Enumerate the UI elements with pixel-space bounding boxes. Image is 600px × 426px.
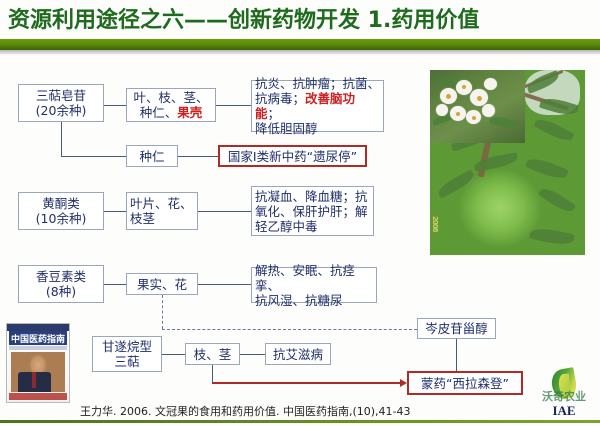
connector-part2-effect2 bbox=[198, 211, 251, 212]
slide-canvas: 资源利用途径之六——创新药物开发 1.药用价值 20 bbox=[0, 0, 600, 426]
drug-box-yiniaoting: 国家I类新中药“遗尿停” bbox=[218, 145, 367, 167]
part-line-1: 叶、枝、茎、 bbox=[133, 90, 208, 105]
coumarin-line-2: (8种) bbox=[46, 284, 76, 299]
brand-logo: 沃奇农业 IAE bbox=[536, 369, 592, 419]
part-box-leaf-flower-branch: 叶片、花、 枝茎 bbox=[126, 192, 198, 230]
effect-line-3: 降低胆固醇 bbox=[255, 121, 318, 136]
effect4-label: 抗艾滋病 bbox=[269, 347, 327, 362]
photo-watermark: 2008 bbox=[431, 216, 439, 231]
connector-compound4-part4 bbox=[162, 354, 185, 355]
effect2-line-2: 氧化、保肝护肝；解 bbox=[255, 204, 368, 219]
part-box-branch-stem: 枝、茎 bbox=[185, 343, 240, 365]
effect-line-2b: ； bbox=[268, 106, 281, 121]
effect3-line-1: 解热、安眠、抗痉挛、 bbox=[255, 263, 355, 293]
effect-box-anti-aids: 抗艾滋病 bbox=[265, 343, 331, 365]
part-box-kernel: 种仁 bbox=[126, 145, 178, 167]
compound-line-1: 三萜皂苷 bbox=[36, 88, 86, 103]
compound-line-2: (20余种) bbox=[36, 103, 87, 118]
header-bar-shadow bbox=[0, 50, 600, 55]
effect2-line-3: 轻乙醇中毒 bbox=[255, 219, 318, 234]
tirucallane-line-2: 三萜 bbox=[114, 354, 139, 369]
dashed-connector-vertical bbox=[162, 295, 163, 329]
coumarin-line-1: 香豆素类 bbox=[36, 269, 86, 284]
part-highlight-shell: 果壳 bbox=[177, 105, 202, 120]
page-title: 资源利用途径之六——创新药物开发 1.药用价值 bbox=[8, 6, 588, 36]
connector-compound3-part3 bbox=[104, 284, 126, 285]
journal-cover-title: 中国医药指南 bbox=[9, 331, 67, 345]
footer-rule bbox=[0, 420, 600, 423]
connector-part3-effect3 bbox=[198, 284, 251, 285]
part2-line-2: 枝茎 bbox=[130, 211, 155, 226]
part2-line-1: 叶片、花、 bbox=[130, 196, 193, 211]
compound-box-triterpenoid-saponin: 三萜皂苷 (20余种) bbox=[18, 84, 104, 122]
flavonoid-line-1: 黄酮类 bbox=[42, 196, 80, 211]
connector-compound2-part2 bbox=[104, 211, 126, 212]
connector-part4-effect4 bbox=[240, 354, 265, 355]
effect-box-antiinflammatory: 抗炎、抗肿瘤；抗菌、 抗病毒；改善脑功能； 降低胆固醇 bbox=[251, 80, 384, 132]
connector-compound1-kernel bbox=[61, 156, 126, 157]
effect-box-anticoagulant: 抗凝血、降血糖；抗 氧化、保肝护肝；解 轻乙醇中毒 bbox=[251, 186, 374, 236]
compound-box-flavonoid: 黄酮类 (10余种) bbox=[18, 192, 104, 230]
fraxin-sterol-label: 岑皮苷甾醇 bbox=[421, 321, 492, 336]
part-box-leaf-branch-stem-kernel-shell: 叶、枝、茎、 种仁、果壳 bbox=[126, 88, 216, 122]
part-kernel-label: 种仁 bbox=[130, 149, 174, 164]
drug-box-xilasendeng: 蒙药“西拉森登” bbox=[407, 371, 523, 395]
compound-box-tirucallane: 甘遂烷型 三萜 bbox=[92, 336, 162, 372]
brand-abbr: IAE bbox=[536, 403, 592, 419]
connector-part4-down bbox=[212, 365, 213, 383]
connector-kernel-drug bbox=[178, 156, 218, 157]
effect-line-1: 抗炎、抗肿瘤；抗菌、 bbox=[255, 76, 380, 91]
brand-name-cn: 沃奇农业 bbox=[534, 388, 594, 404]
connector-sterol-to-drug bbox=[456, 339, 457, 371]
connector-compound1-down bbox=[61, 122, 62, 156]
arrow-head-xilasendeng bbox=[400, 379, 407, 387]
connector-part1-effect1 bbox=[216, 105, 251, 106]
compound-box-coumarin: 香豆素类 (8种) bbox=[18, 265, 104, 303]
part-line-2a: 种仁、 bbox=[140, 105, 178, 120]
effect-line-2a: 抗病毒； bbox=[255, 91, 305, 106]
arrow-line-to-xilasendeng bbox=[212, 382, 401, 384]
xilasendeng-label: 蒙药“西拉森登” bbox=[412, 376, 518, 391]
compound-box-fraxin-sterol: 岑皮苷甾醇 bbox=[417, 318, 496, 339]
connector-compound1-part1 bbox=[104, 105, 126, 106]
effect3-line-2: 抗风湿、抗糖尿 bbox=[255, 293, 343, 308]
effect-box-antipyretic: 解热、安眠、抗痉挛、 抗风湿、抗糖尿 bbox=[251, 267, 377, 303]
part4-label: 枝、茎 bbox=[189, 347, 236, 362]
flower-photo bbox=[430, 70, 525, 143]
tirucallane-line-1: 甘遂烷型 bbox=[102, 339, 152, 354]
dashed-connector-horizontal bbox=[162, 329, 417, 330]
drug-yiniaoting-label: 国家I类新中药“遗尿停” bbox=[223, 149, 362, 164]
part-box-fruit-flower: 果实、花 bbox=[126, 273, 198, 295]
flavonoid-line-2: (10余种) bbox=[36, 211, 87, 226]
citation-text: 王力华. 2006. 文冠果的食用和药用价值. 中国医药指南,(10),41-4… bbox=[80, 403, 500, 419]
part3-label: 果实、花 bbox=[130, 277, 194, 292]
journal-cover-image: 中国医药指南 bbox=[6, 323, 70, 403]
header-accent-bar bbox=[0, 39, 600, 50]
effect2-line-1: 抗凝血、降血糖；抗 bbox=[255, 189, 368, 204]
